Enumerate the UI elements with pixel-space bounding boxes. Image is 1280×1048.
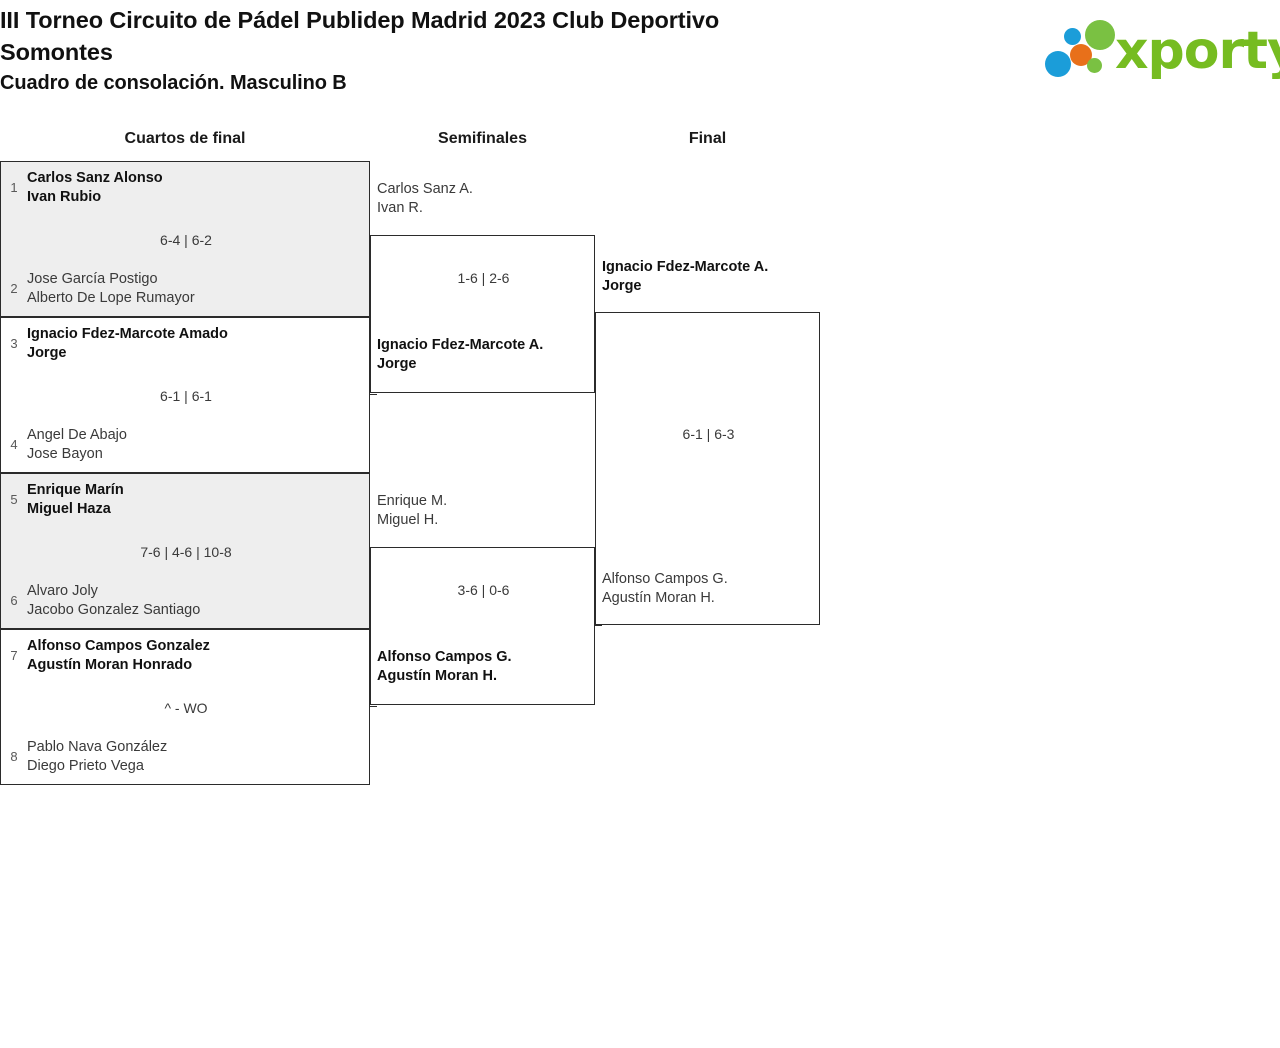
seed-number: 6 bbox=[1, 593, 27, 609]
score-sf-2: 3-6 | 0-6 bbox=[371, 581, 596, 599]
score-qf-3: 7-6 | 4-6 | 10-8 bbox=[1, 543, 371, 561]
tournament-bracket: 1 Carlos Sanz Alonso Ivan Rubio 6-4 | 6-… bbox=[0, 0, 1280, 1048]
seed-number: 1 bbox=[1, 180, 27, 196]
team-players: Ignacio Fdez-Marcote Amado Jorge bbox=[27, 325, 369, 362]
seed-number: 7 bbox=[1, 648, 27, 664]
team-players: Enrique Marín Miguel Haza bbox=[27, 481, 369, 518]
connector-qf-2 bbox=[370, 394, 377, 395]
team-qf-4-bottom[interactable]: 8 Pablo Nava González Diego Prieto Vega bbox=[1, 738, 369, 775]
team-players: Alvaro Joly Jacobo Gonzalez Santiago bbox=[27, 582, 369, 619]
score-final: 6-1 | 6-3 bbox=[596, 425, 821, 443]
match-box-qf-3[interactable]: 5 Enrique Marín Miguel Haza 7-6 | 4-6 | … bbox=[0, 473, 370, 629]
seed-number: 4 bbox=[1, 437, 27, 453]
team-players: Jose García Postigo Alberto De Lope Ruma… bbox=[27, 270, 369, 307]
seed-number: 3 bbox=[1, 336, 27, 352]
match-box-qf-2[interactable]: 3 Ignacio Fdez-Marcote Amado Jorge 6-1 |… bbox=[0, 317, 370, 473]
team-sf-1-bottom[interactable]: Ignacio Fdez-Marcote A. Jorge bbox=[377, 336, 592, 373]
match-box-qf-4[interactable]: 7 Alfonso Campos Gonzalez Agustín Moran … bbox=[0, 629, 370, 785]
seed-number: 2 bbox=[1, 281, 27, 297]
score-sf-1: 1-6 | 2-6 bbox=[371, 269, 596, 287]
team-players: Angel De Abajo Jose Bayon bbox=[27, 426, 369, 463]
connector-qf-4 bbox=[370, 706, 377, 707]
team-sf-1-top[interactable]: Carlos Sanz A. Ivan R. bbox=[377, 180, 592, 217]
team-qf-2-bottom[interactable]: 4 Angel De Abajo Jose Bayon bbox=[1, 426, 369, 463]
score-qf-2: 6-1 | 6-1 bbox=[1, 387, 371, 405]
team-qf-4-top[interactable]: 7 Alfonso Campos Gonzalez Agustín Moran … bbox=[1, 637, 369, 674]
score-qf-4: ^ - WO bbox=[1, 699, 371, 717]
connector-sf-2 bbox=[595, 625, 602, 626]
team-sf-2-top[interactable]: Enrique M. Miguel H. bbox=[377, 492, 592, 529]
score-qf-1: 6-4 | 6-2 bbox=[1, 231, 371, 249]
team-sf-2-bottom[interactable]: Alfonso Campos G. Agustín Moran H. bbox=[377, 648, 592, 685]
team-final-bottom[interactable]: Alfonso Campos G. Agustín Moran H. bbox=[602, 570, 817, 607]
team-qf-3-bottom[interactable]: 6 Alvaro Joly Jacobo Gonzalez Santiago bbox=[1, 582, 369, 619]
team-qf-1-bottom[interactable]: 2 Jose García Postigo Alberto De Lope Ru… bbox=[1, 270, 369, 307]
team-players: Pablo Nava González Diego Prieto Vega bbox=[27, 738, 369, 775]
team-players: Carlos Sanz Alonso Ivan Rubio bbox=[27, 169, 369, 206]
team-players: Alfonso Campos Gonzalez Agustín Moran Ho… bbox=[27, 637, 369, 674]
team-qf-3-top[interactable]: 5 Enrique Marín Miguel Haza bbox=[1, 481, 369, 518]
team-final-top[interactable]: Ignacio Fdez-Marcote A. Jorge bbox=[602, 258, 817, 295]
seed-number: 8 bbox=[1, 749, 27, 765]
team-qf-2-top[interactable]: 3 Ignacio Fdez-Marcote Amado Jorge bbox=[1, 325, 369, 362]
team-qf-1-top[interactable]: 1 Carlos Sanz Alonso Ivan Rubio bbox=[1, 169, 369, 206]
seed-number: 5 bbox=[1, 492, 27, 508]
match-box-qf-1[interactable]: 1 Carlos Sanz Alonso Ivan Rubio 6-4 | 6-… bbox=[0, 161, 370, 317]
